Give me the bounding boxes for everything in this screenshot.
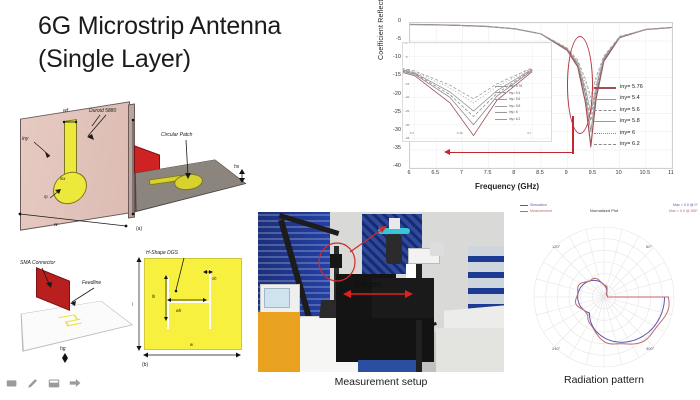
chart-inset-legend: iny= 5.76iny= 5.4iny= 5.6iny= 5.8iny= 6i… xyxy=(495,83,522,123)
label-sma-connector: SMA Connector xyxy=(20,260,55,266)
label-iny: iny xyxy=(22,136,28,142)
inset-y-tick: -5 xyxy=(405,55,408,59)
dgs-slot-left xyxy=(167,277,169,329)
inset-legend-item: iny= 6 xyxy=(495,109,522,116)
chart-x-tick: 8.5 xyxy=(532,170,548,176)
dgs-ground-plane xyxy=(144,258,242,350)
legend-label: iny= 5.6 xyxy=(509,96,520,103)
chart-legend-item: iny= 5.6 xyxy=(594,105,643,116)
chart-y-tick: -30 xyxy=(385,127,401,133)
figure-radiation-pattern: SimulationMeasurement Max = 0.0 @ 0°Max … xyxy=(508,204,700,398)
label-circular-patch: Circular Patch xyxy=(161,132,192,138)
legend-swatch xyxy=(594,133,616,134)
label-rp: rp xyxy=(44,194,48,199)
photo-distance-label: 100 cm xyxy=(354,280,381,289)
frame-icon[interactable] xyxy=(47,376,61,390)
chart-inset-svg xyxy=(403,43,551,141)
legend-label: iny= 5.76 xyxy=(620,82,643,93)
resonance-highlight-ellipse xyxy=(567,36,593,134)
chart-x-tick: 9.5 xyxy=(584,170,600,176)
label-hg: hg xyxy=(60,346,66,352)
chart-x-tick: 7.5 xyxy=(480,170,496,176)
title-line-2: (Single Layer) xyxy=(38,43,368,76)
polar-plot: 120°60°240°300° xyxy=(526,222,682,372)
figure-sma-feedline: SMA Connector Feedline hg xyxy=(6,238,131,368)
inset-legend-item: iny= 5.8 xyxy=(495,103,522,110)
label-feedline: Feedline xyxy=(82,280,101,286)
chart-legend-item: iny= 6.2 xyxy=(594,139,643,150)
chart-x-tick: 10 xyxy=(611,170,627,176)
legend-label: iny= 6.2 xyxy=(620,139,640,150)
legend-label: iny= 5.6 xyxy=(620,105,640,116)
inset-x-tick: 9.2 xyxy=(410,131,414,135)
chart-x-tick: 6 xyxy=(401,170,417,176)
legend-swatch xyxy=(594,99,616,100)
legend-swatch xyxy=(495,119,507,120)
label-subfig-b: (b) xyxy=(142,362,148,368)
dgs-slot-bridge xyxy=(167,301,211,303)
inset-legend-item: iny= 6.2 xyxy=(495,116,522,123)
inset-legend-item: iny= 5.6 xyxy=(495,96,522,103)
page-title: 6G Microstrip Antenna (Single Layer) xyxy=(38,10,368,76)
chart-x-tick: 10.5 xyxy=(637,170,653,176)
legend-swatch xyxy=(495,106,507,107)
chart-legend: iny= 5.76iny= 5.4iny= 5.6iny= 5.8iny= 6i… xyxy=(594,82,643,150)
inset-x-tick: 9.40 xyxy=(457,131,463,135)
legend-swatch xyxy=(594,110,616,111)
chart-y-tick: 0 xyxy=(385,18,401,24)
chart-x-tick: 11 xyxy=(663,170,679,176)
legend-label: iny= 6.2 xyxy=(509,116,520,123)
inset-y-tick: -15 xyxy=(405,82,409,86)
photo-annotation xyxy=(258,212,504,372)
label-subfig-a: (a) xyxy=(136,226,142,232)
legend-swatch xyxy=(495,99,507,100)
inset-y-tick: -30 xyxy=(405,123,409,127)
radiation-caption: Radiation pattern xyxy=(508,374,700,386)
chart-y-axis-label: Coefficient Reflection (dB) xyxy=(378,0,385,60)
legend-swatch xyxy=(495,92,507,93)
chart-legend-item: iny= 5.76 xyxy=(594,82,643,93)
label-lh: lh xyxy=(152,294,155,299)
legend-label: iny= 6 xyxy=(620,128,635,139)
legend-swatch xyxy=(495,86,507,87)
slide-canvas: 6G Microstrip Antenna (Single Layer) wf … xyxy=(0,0,700,400)
pencil-icon[interactable] xyxy=(26,376,40,390)
bottom-toolbar[interactable] xyxy=(5,376,82,390)
polar-angle-label: 120° xyxy=(552,244,560,249)
inset-y-tick: -10 xyxy=(405,68,409,72)
chart-x-tick: 9 xyxy=(558,170,574,176)
polar-angle-label: 240° xyxy=(552,346,560,351)
legend-swatch xyxy=(594,87,616,89)
arrow-right-icon[interactable] xyxy=(68,376,82,390)
chart-y-tick: -40 xyxy=(385,163,401,169)
figure-hshape-dgs: lh wh sh l w H-Shape DGS (b) xyxy=(128,250,256,374)
annotation-arrow-head xyxy=(444,149,450,155)
chart-y-tick: -10 xyxy=(385,54,401,60)
inset-y-tick: -20 xyxy=(405,95,409,99)
legend-label: iny= 5.4 xyxy=(620,93,640,104)
legend-label: iny= 5.4 xyxy=(509,90,520,97)
figure-s11-chart: Coefficient Reflection (dB) Frequency (G… xyxy=(380,4,696,196)
measurement-photo: 100 cm xyxy=(258,212,504,372)
inset-legend-item: iny= 5.4 xyxy=(495,90,522,97)
legend-label: iny= 5.8 xyxy=(620,116,640,127)
label-wf: wf xyxy=(63,108,68,114)
chart-x-tick: 6.5 xyxy=(427,170,443,176)
label-sh: sh xyxy=(212,276,216,281)
annotation-arrow-line xyxy=(450,152,574,153)
chart-x-axis-label: Frequency (GHz) xyxy=(475,182,539,191)
title-line-1: 6G Microstrip Antenna xyxy=(38,10,368,43)
polar-svg xyxy=(526,222,682,372)
chart-y-tick: -25 xyxy=(385,109,401,115)
chart-y-tick: -20 xyxy=(385,91,401,97)
figure-measurement-setup: 100 cm Measurement setup xyxy=(258,212,504,398)
legend-label: iny= 5.76 xyxy=(509,83,522,90)
label-dgs-w: w xyxy=(190,342,193,347)
inset-y-tick: -35 xyxy=(405,136,409,140)
legend-swatch xyxy=(594,121,616,122)
chart-legend-item: iny= 5.4 xyxy=(594,93,643,104)
legend-swatch xyxy=(594,144,616,145)
annotation-arrow-riser xyxy=(572,116,574,154)
polar-angle-label: 60° xyxy=(646,244,652,249)
chart-legend-item: iny= 6 xyxy=(594,128,643,139)
chart-y-tick: -15 xyxy=(385,72,401,78)
chart-inset: iny= 5.76iny= 5.4iny= 5.6iny= 5.8iny= 6i… xyxy=(402,42,552,142)
label-wh: wh xyxy=(176,308,181,313)
inset-y-tick: -25 xyxy=(405,109,409,113)
chart-y-tick: -35 xyxy=(385,145,401,151)
label-inx: inx xyxy=(60,176,65,181)
legend-swatch xyxy=(495,112,507,113)
legend-swatch xyxy=(520,205,528,206)
chart-x-tick: 8 xyxy=(506,170,522,176)
square-icon[interactable] xyxy=(5,376,19,390)
inset-y-tick: 0 xyxy=(405,42,407,45)
legend-label: iny= 6 xyxy=(509,109,518,116)
label-dgs-l: l xyxy=(132,302,133,307)
inset-x-tick: 9.7 xyxy=(527,131,531,135)
label-duroid: Duroid 5880 xyxy=(89,108,116,114)
photo-caption: Measurement setup xyxy=(258,376,504,388)
inset-legend-item: iny= 5.76 xyxy=(495,83,522,90)
chart-y-tick: -5 xyxy=(385,36,401,42)
label-hs: hs xyxy=(234,164,239,170)
sma-connector-plate xyxy=(36,267,70,311)
chart-x-tick: 7 xyxy=(453,170,469,176)
label-w: w xyxy=(54,222,58,228)
figure-antenna-geometry: wf iny inx rp Duroid 5880 l w Circular P… xyxy=(6,102,256,232)
chart-legend-item: iny= 5.8 xyxy=(594,116,643,127)
dgs-slot-right xyxy=(209,269,211,329)
label-hshape-dgs: H-Shape DGS xyxy=(146,250,178,256)
legend-label: iny= 5.8 xyxy=(509,103,520,110)
radiation-plot-title: Normalized Plot xyxy=(508,208,700,213)
polar-angle-label: 300° xyxy=(646,346,654,351)
